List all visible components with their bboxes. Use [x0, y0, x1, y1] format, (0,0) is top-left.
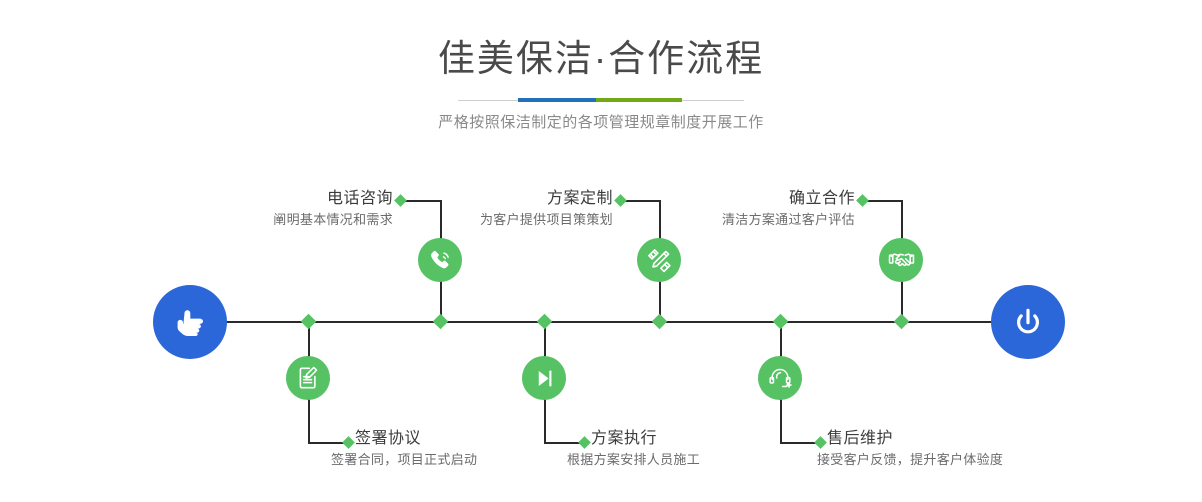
label-title-step-2: 电话咨询 [150, 188, 393, 210]
label-desc-step-5: 接受客户反馈，提升客户体验度 [817, 450, 1117, 470]
node-icon-step-3 [522, 356, 566, 400]
header: 佳美保洁·合作流程 严格按照保洁制定的各项管理规章制度开展工作 [0, 0, 1202, 134]
label-step-6: 确立合作 清洁方案通过客户评估 [612, 188, 855, 230]
power-button-icon [1008, 302, 1048, 342]
label-title-step-1: 签署协议 [355, 428, 615, 450]
node-icon-step-6 [879, 238, 923, 282]
axis-marker-4 [652, 314, 668, 330]
label-title-step-6: 确立合作 [612, 188, 855, 210]
label-step-5: 售后维护 接受客户反馈，提升客户体验度 [827, 428, 1117, 470]
axis-marker-1 [301, 314, 317, 330]
play-forward-icon [532, 366, 557, 391]
node-icon-step-2 [418, 238, 462, 282]
label-desc-step-4: 为客户提供项目策策划 [370, 210, 613, 230]
node-icon-step-5 [758, 356, 802, 400]
divider-blue-segment [518, 98, 596, 102]
divider-green-segment [596, 98, 682, 102]
headset-support-icon [767, 365, 793, 391]
document-pencil-icon [295, 365, 321, 391]
axis-marker-3 [537, 314, 553, 330]
label-marker-step-6 [856, 194, 869, 207]
axis-marker-6 [894, 314, 910, 330]
label-step-3: 方案执行 根据方案安排人员施工 [591, 428, 851, 470]
label-step-2: 电话咨询 阐明基本情况和需求 [150, 188, 393, 230]
flow-diagram-canvas: 佳美保洁·合作流程 严格按照保洁制定的各项管理规章制度开展工作 [0, 0, 1202, 502]
page-subtitle: 严格按照保洁制定的各项管理规章制度开展工作 [0, 112, 1202, 134]
label-desc-step-3: 根据方案安排人员施工 [567, 450, 851, 470]
axis-marker-2 [433, 314, 449, 330]
label-desc-step-2: 阐明基本情况和需求 [150, 210, 393, 230]
timeline-start-node [153, 285, 227, 359]
pencil-ruler-icon [646, 247, 673, 274]
handshake-icon [888, 247, 915, 274]
page-title: 佳美保洁·合作流程 [0, 36, 1202, 82]
phone-call-icon [427, 247, 454, 274]
label-title-step-5: 售后维护 [827, 428, 1117, 450]
label-title-step-4: 方案定制 [370, 188, 613, 210]
axis-marker-5 [773, 314, 789, 330]
label-desc-step-6: 清洁方案通过客户评估 [612, 210, 855, 230]
label-title-step-3: 方案执行 [591, 428, 851, 450]
label-marker-step-1 [342, 436, 355, 449]
node-icon-step-4 [637, 238, 681, 282]
label-step-4: 方案定制 为客户提供项目策策划 [370, 188, 613, 230]
node-icon-step-1 [286, 356, 330, 400]
title-divider [458, 98, 744, 102]
pointing-hand-icon [170, 302, 210, 342]
timeline-end-node [991, 285, 1065, 359]
